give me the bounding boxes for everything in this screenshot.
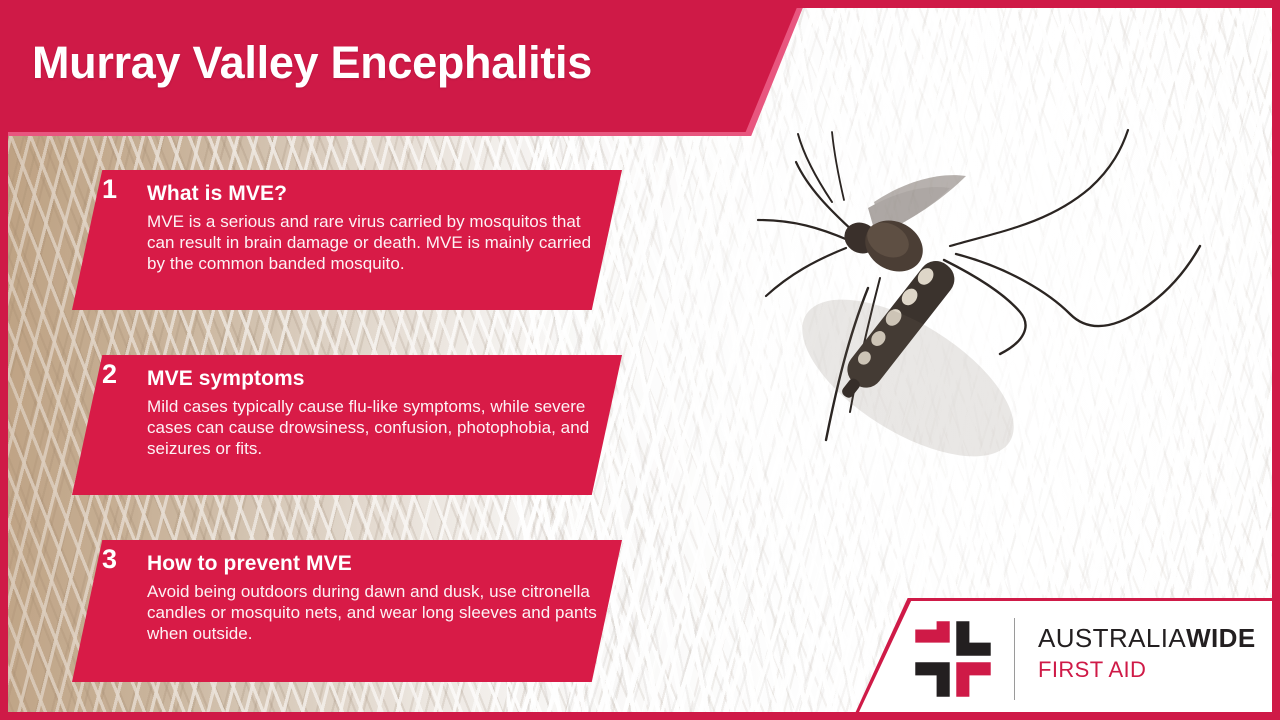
logo-divider bbox=[1014, 618, 1015, 700]
info-card-3: 3 How to prevent MVE Avoid being outdoor… bbox=[72, 540, 622, 682]
card-number: 1 bbox=[102, 176, 117, 203]
card-description: Mild cases typically cause flu-like symp… bbox=[147, 397, 602, 459]
header-banner: Murray Valley Encephalitis bbox=[0, 0, 800, 132]
page-title: Murray Valley Encephalitis bbox=[32, 40, 592, 85]
logo-wordmark: AUSTRALIAWIDE FIRST AID bbox=[1038, 624, 1256, 682]
card-description: MVE is a serious and rare virus carried … bbox=[147, 212, 602, 274]
card-title: MVE symptoms bbox=[147, 367, 602, 390]
card-number: 2 bbox=[102, 361, 117, 388]
info-card-2: 2 MVE symptoms Mild cases typically caus… bbox=[72, 355, 622, 495]
logo-panel: AUSTRALIAWIDE FIRST AID bbox=[852, 598, 1280, 720]
australia-wide-cross-icon bbox=[912, 618, 994, 700]
logo-brand-name: AUSTRALIAWIDE bbox=[1038, 624, 1256, 653]
info-card-1: 1 What is MVE? MVE is a serious and rare… bbox=[72, 170, 622, 310]
logo-brand-part1: AUSTRALIA bbox=[1038, 623, 1186, 653]
card-description: Avoid being outdoors during dawn and dus… bbox=[147, 582, 602, 644]
logo-tagline: FIRST AID bbox=[1038, 657, 1256, 682]
logo-brand-part2: WIDE bbox=[1186, 623, 1255, 653]
card-title: What is MVE? bbox=[147, 182, 602, 205]
card-title: How to prevent MVE bbox=[147, 552, 602, 575]
card-content: MVE symptoms Mild cases typically cause … bbox=[147, 367, 602, 459]
card-content: How to prevent MVE Avoid being outdoors … bbox=[147, 552, 602, 644]
card-content: What is MVE? MVE is a serious and rare v… bbox=[147, 182, 602, 274]
infographic-poster: Murray Valley Encephalitis 1 What is MVE… bbox=[0, 0, 1280, 720]
card-number: 3 bbox=[102, 546, 117, 573]
